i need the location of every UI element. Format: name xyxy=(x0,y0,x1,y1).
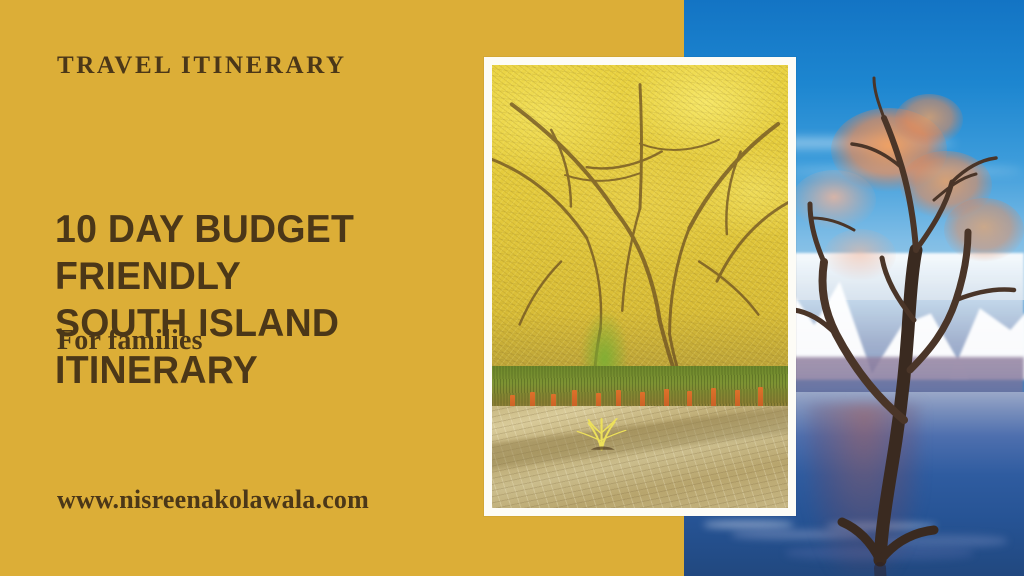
golden-canopy-region xyxy=(492,65,788,380)
autumn-willows-riverbed-photo xyxy=(492,65,788,508)
subtitle-text: For families xyxy=(57,325,203,357)
eyebrow-label: TRAVEL ITINERARY xyxy=(57,52,347,80)
yellow-shrub xyxy=(569,408,634,451)
page-title: 10 DAY BUDGET FRIENDLY SOUTH ISLAND ITIN… xyxy=(55,206,468,394)
travel-itinerary-banner: TRAVEL ITINERARY 10 DAY BUDGET FRIENDLY … xyxy=(0,0,1024,576)
page-title-line-1: 10 DAY BUDGET FRIENDLY xyxy=(55,208,354,298)
gravel-riverbed-region xyxy=(492,406,788,508)
inset-photo-frame xyxy=(484,57,796,516)
website-url: www.nisreenakolawala.com xyxy=(57,485,369,515)
